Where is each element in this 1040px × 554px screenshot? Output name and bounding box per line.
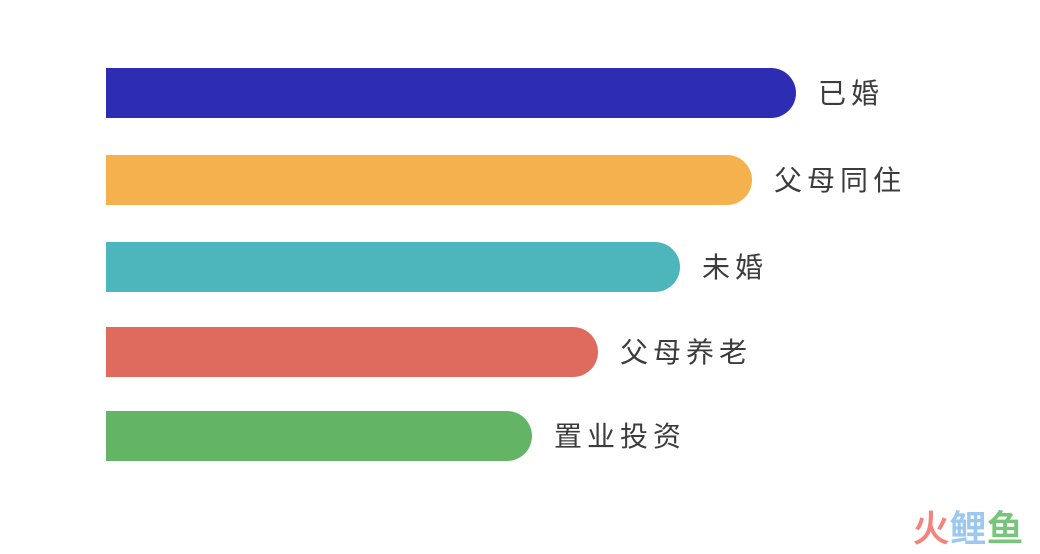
- bar-row: 已婚: [106, 68, 884, 118]
- bar-label-unmarried: 未婚: [702, 252, 768, 282]
- bar-row: 未婚: [106, 242, 768, 292]
- watermark-logo: 火鲤鱼: [913, 512, 1024, 548]
- bar-shape-parent-elderly-care[interactable]: [106, 327, 598, 377]
- watermark-char-fire: 火: [913, 512, 950, 548]
- bar-row: 父母养老: [106, 327, 752, 377]
- bar-label-parent-elderly-care: 父母养老: [620, 337, 752, 367]
- bar-shape-unmarried[interactable]: [106, 242, 680, 292]
- bar-row: 父母同住: [106, 155, 906, 205]
- bar-shape-property-investment[interactable]: [106, 411, 532, 461]
- bar-row: 置业投资: [106, 411, 686, 461]
- bar-chart: 已婚 父母同住 未婚 父母养老 置业投资 火鲤鱼: [0, 0, 1040, 554]
- bar-shape-living-with-parents[interactable]: [106, 155, 752, 205]
- watermark-char-fish: 鱼: [987, 512, 1024, 548]
- bar-shape-married[interactable]: [106, 68, 796, 118]
- watermark-char-carp: 鲤: [950, 512, 987, 548]
- bar-label-married: 已婚: [818, 78, 884, 108]
- bar-label-property-investment: 置业投资: [554, 421, 686, 451]
- bar-label-living-with-parents: 父母同住: [774, 165, 906, 195]
